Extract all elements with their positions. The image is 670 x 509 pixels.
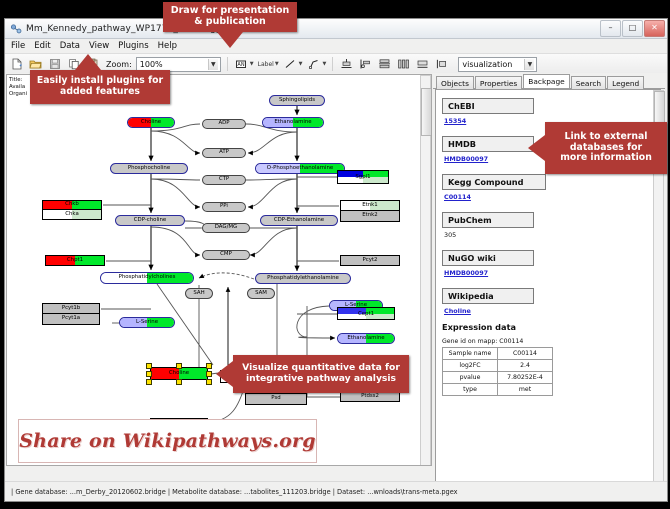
node-label: CMP [220,252,232,257]
selection-handle-nw[interactable] [146,363,152,369]
close-button[interactable]: ✕ [644,20,665,37]
gene-box-psd[interactable]: Psd [245,393,307,405]
node-sah[interactable]: SAH [185,288,213,299]
connector-tool[interactable]: ▼ [307,57,327,72]
callout-draw: Draw for presentation & publication [163,2,297,32]
scrollbar-thumb[interactable] [421,88,432,136]
cell-value: 2.4 [498,360,553,372]
node-choline-selected[interactable]: Choline [150,367,208,380]
node-label: Chka [65,212,79,217]
tab-objects[interactable]: Objects [436,76,474,89]
node-label: DAG/MG [215,225,237,230]
node-label: Etnk2 [362,213,378,218]
align-left-icon[interactable] [358,57,373,72]
size-common-icon[interactable] [415,57,430,72]
cell-value: C00114 [498,348,553,360]
node-label: Chpt1 [67,258,83,263]
node-o-phosphoethanolamine[interactable]: O-Phosphoethanolamine [255,163,345,174]
node-cdp-choline[interactable]: CDP-choline [115,215,185,226]
pathway-connectors [7,75,431,465]
table-row: pvalue 7.80252E-4 [443,372,553,384]
title-bar: Mm_Kennedy_pathway_WP1771_45176.gpml – □… [5,19,667,39]
gene-box-cept1[interactable]: Cept1 [337,307,395,320]
node-label: Phosphocholine [128,166,170,171]
node-label: Ptdss2 [361,394,379,399]
gene-box-chkb[interactable]: Chkb [42,200,102,210]
callout-draw-tail [217,32,243,48]
chevron-down-icon[interactable]: ▼ [323,61,327,67]
selection-handle-se[interactable] [206,379,212,385]
menu-item-file[interactable]: File [11,41,25,51]
maximize-button[interactable]: □ [622,20,643,37]
callout-visualize: Visualize quantitative data for integrat… [233,355,409,393]
callout-external-links: Link to external databases for more info… [545,122,667,174]
link-wikipedia[interactable]: Choline [444,307,646,315]
status-bar: | Gene database: ...m_Derby_20120602.bri… [5,481,667,501]
node-label: Etnk1 [362,203,378,208]
new-file-icon[interactable] [9,57,24,72]
callout-plugins: Easily install plugins for added feature… [30,70,170,104]
node-label: Choline [169,371,189,376]
section-header-kegg-compound: Kegg Compound [442,174,546,190]
menu-item-plugins[interactable]: Plugins [118,41,148,51]
node-label: CTP [219,177,229,182]
tab-legend[interactable]: Legend [607,76,644,89]
cell-label: pvalue [443,372,498,384]
node-ethanolamine-top[interactable]: Ethanolamine [262,117,324,128]
node-label: Chkb [65,202,79,207]
node-label: O-Phosphoethanolamine [267,166,333,171]
gene-box-etnk2[interactable]: Etnk2 [340,211,400,222]
align-bottom-icon[interactable] [339,57,354,72]
distribute-horizontal-icon[interactable] [396,57,411,72]
cell-label: log2FC [443,360,498,372]
screenshot-root: Mm_Kennedy_pathway_WP1771_45176.gpml – □… [0,0,670,509]
node-atp[interactable]: ATP [202,148,246,158]
selection-handle-e[interactable] [206,371,212,377]
node-label: Ethanolamine [347,336,384,341]
menu-bar: File Edit Data View Plugins Help [5,39,667,54]
gene-box-chpt1[interactable]: Chpt1 [45,255,105,266]
cell-label: Sample name [443,348,498,360]
node-label: Sgpl1 [338,175,388,180]
node-cdp-ethanolamine[interactable]: CDP-Ethanolamine [260,215,338,226]
node-label: Choline [141,120,161,125]
node-l-serine-left[interactable]: L-Serine [119,317,175,328]
minimize-button[interactable]: – [600,20,621,37]
selection-handle-sw[interactable] [146,379,152,385]
table-row: Sample name C00114 [443,348,553,360]
node-phosphocholine[interactable]: Phosphocholine [110,163,188,174]
label-tool[interactable]: Label ▼ [258,61,279,68]
callout-external-links-tail [528,135,545,161]
node-label: L-Serine [345,303,367,308]
size-width-icon[interactable] [434,57,449,72]
datanode-tool[interactable]: AN ▼ [234,57,254,72]
node-label: Ethanolamine [274,120,311,125]
menu-item-data[interactable]: Data [60,41,80,51]
connector-icon[interactable] [307,57,322,72]
gene-box-sgpl1[interactable]: Sgpl1 [337,170,389,184]
node-sphingolipids[interactable]: Sphingolipids [269,95,325,106]
node-label: Phosphatidylcholines [119,275,176,280]
visualization-value: visualization [462,60,512,69]
selection-handle-w[interactable] [146,371,152,377]
cell-label: type [443,384,498,396]
node-label: ADP [218,121,229,126]
gene-box-etnk1[interactable]: Etnk1 [340,200,400,211]
menu-item-view[interactable]: View [89,41,109,51]
datanode-icon[interactable]: AN [234,57,249,72]
section-header-chebi: ChEBI [442,98,534,114]
chevron-down-icon[interactable]: ▼ [208,59,218,70]
node-cmp[interactable]: CMP [202,250,250,260]
section-header-hmdb: HMDB [442,136,534,152]
node-label: Sphingolipids [279,98,315,103]
section-header-wikipedia: Wikipedia [442,288,534,304]
chevron-down-icon[interactable]: ▼ [299,61,303,67]
tab-backpage[interactable]: Backpage [523,74,569,88]
tab-properties[interactable]: Properties [475,76,522,89]
label-tool-label: Label [258,61,274,68]
visualization-combo[interactable]: visualization ▼ [458,57,537,72]
chevron-down-icon[interactable]: ▼ [524,59,534,70]
menu-item-help[interactable]: Help [158,41,177,51]
callout-visualize-tail [216,361,233,387]
link-nugo-wiki[interactable]: HMDB00097 [444,269,646,277]
share-text: Share on Wikipathways.org [19,430,315,452]
node-phosphatidylcholines[interactable]: Phosphatidylcholines [100,272,194,284]
status-text: | Gene database: ...m_Derby_20120602.bri… [5,488,458,496]
canvas-vertical-scrollbar[interactable] [420,75,431,466]
toolbar-separator [332,57,333,71]
table-row: log2FC 2.4 [443,360,553,372]
selection-handle-ne[interactable] [206,363,212,369]
selection-handle-n[interactable] [176,363,182,369]
node-label: SAM [255,291,267,296]
svg-text:AN: AN [238,62,245,68]
node-label: PPi [220,204,228,209]
node-dag-mg[interactable]: DAG/MG [202,223,250,233]
cell-value: met [498,384,553,396]
node-sam[interactable]: SAM [247,288,275,299]
gene-box-chka[interactable]: Chka [42,210,102,220]
expression-table: Sample name C00114 log2FC 2.4 pvalue 7.8… [442,347,553,396]
node-label: Psd [271,396,280,401]
gene-box-pcyt2[interactable]: Pcyt2 [340,255,400,266]
gene-id-on-mapp: Gene id on mapp: C00114 [442,338,646,345]
node-label: Phosphatidylethanolamine [267,276,339,281]
node-ctp[interactable]: CTP [202,175,246,185]
chevron-down-icon[interactable]: ▼ [250,61,254,67]
node-label: Pcyt1b [62,306,80,311]
callout-plugins-tail [75,54,101,70]
toolbar-separator [227,57,228,71]
selection-handle-s[interactable] [176,379,182,385]
pathway-canvas[interactable]: Title: Availa Organi [6,74,432,466]
node-ethanolamine-bottom[interactable]: Ethanolamine [337,333,395,344]
node-phosphatidylethanolamine[interactable]: Phosphatidylethanolamine [255,273,351,284]
node-label: L-Serine [136,320,158,325]
pathvisio-app-icon [10,23,22,35]
node-label: ATP [219,150,229,155]
chevron-down-icon[interactable]: ▼ [275,61,279,67]
side-panel-tabs: Objects Properties Backpage Search Legen… [433,73,665,89]
zoom-label: Zoom: [106,60,132,69]
gene-box-pcyt1a[interactable]: Pcyt1a [42,314,100,325]
menu-item-edit[interactable]: Edit [34,41,50,51]
node-label: Cept1 [338,312,394,317]
section-header-pubchem: PubChem [442,212,534,228]
cell-value: 7.80252E-4 [498,372,553,384]
node-label: SAH [193,291,204,296]
node-label: CDP-choline [134,218,166,223]
value-pubchem: 305 [444,231,646,239]
node-label: Pcyt1a [62,316,80,321]
link-kegg-compound[interactable]: C00114 [444,193,646,201]
window-controls: – □ ✕ [600,20,665,37]
node-choline-top[interactable]: Choline [127,117,175,128]
node-label: Pcyt2 [363,258,378,263]
zoom-value: 100% [140,60,163,69]
callout-share: Share on Wikipathways.org [18,419,317,463]
tab-search[interactable]: Search [571,76,606,89]
line-tool[interactable]: ▼ [283,57,303,72]
expression-data-title: Expression data [442,322,646,332]
line-icon[interactable] [283,57,298,72]
node-ppi[interactable]: PPi [202,202,246,212]
node-adp[interactable]: ADP [202,119,246,129]
section-header-nugo-wiki: NuGO wiki [442,250,534,266]
stack-vertical-icon[interactable] [377,57,392,72]
table-row: type met [443,384,553,396]
gene-box-pcyt1b[interactable]: Pcyt1b [42,303,100,314]
node-label: CDP-Ethanolamine [274,218,324,223]
